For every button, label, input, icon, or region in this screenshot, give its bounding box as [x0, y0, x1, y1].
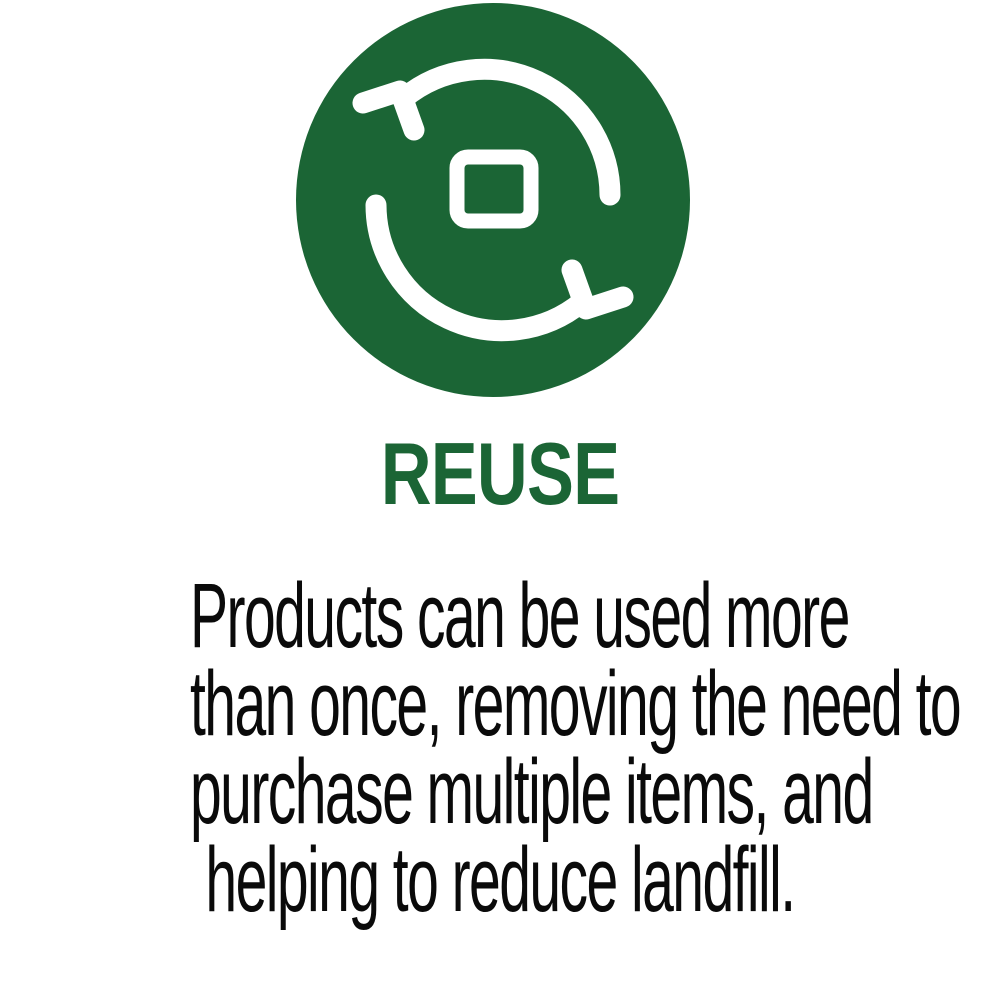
reuse-info-card: REUSE Products can be used more than onc… — [0, 0, 1000, 1000]
description-line: Products can be used more — [190, 572, 810, 660]
description-line: helping to reduce landfill. — [190, 836, 810, 924]
reuse-recycle-loop-icon — [296, 3, 690, 397]
page-title: REUSE — [100, 430, 900, 518]
description-line: purchase multiple items, and — [190, 748, 810, 836]
description-line: than once, removing the need to — [190, 660, 810, 748]
reuse-icon-badge — [296, 3, 690, 397]
description-text: Products can be used more than once, rem… — [0, 572, 1000, 924]
